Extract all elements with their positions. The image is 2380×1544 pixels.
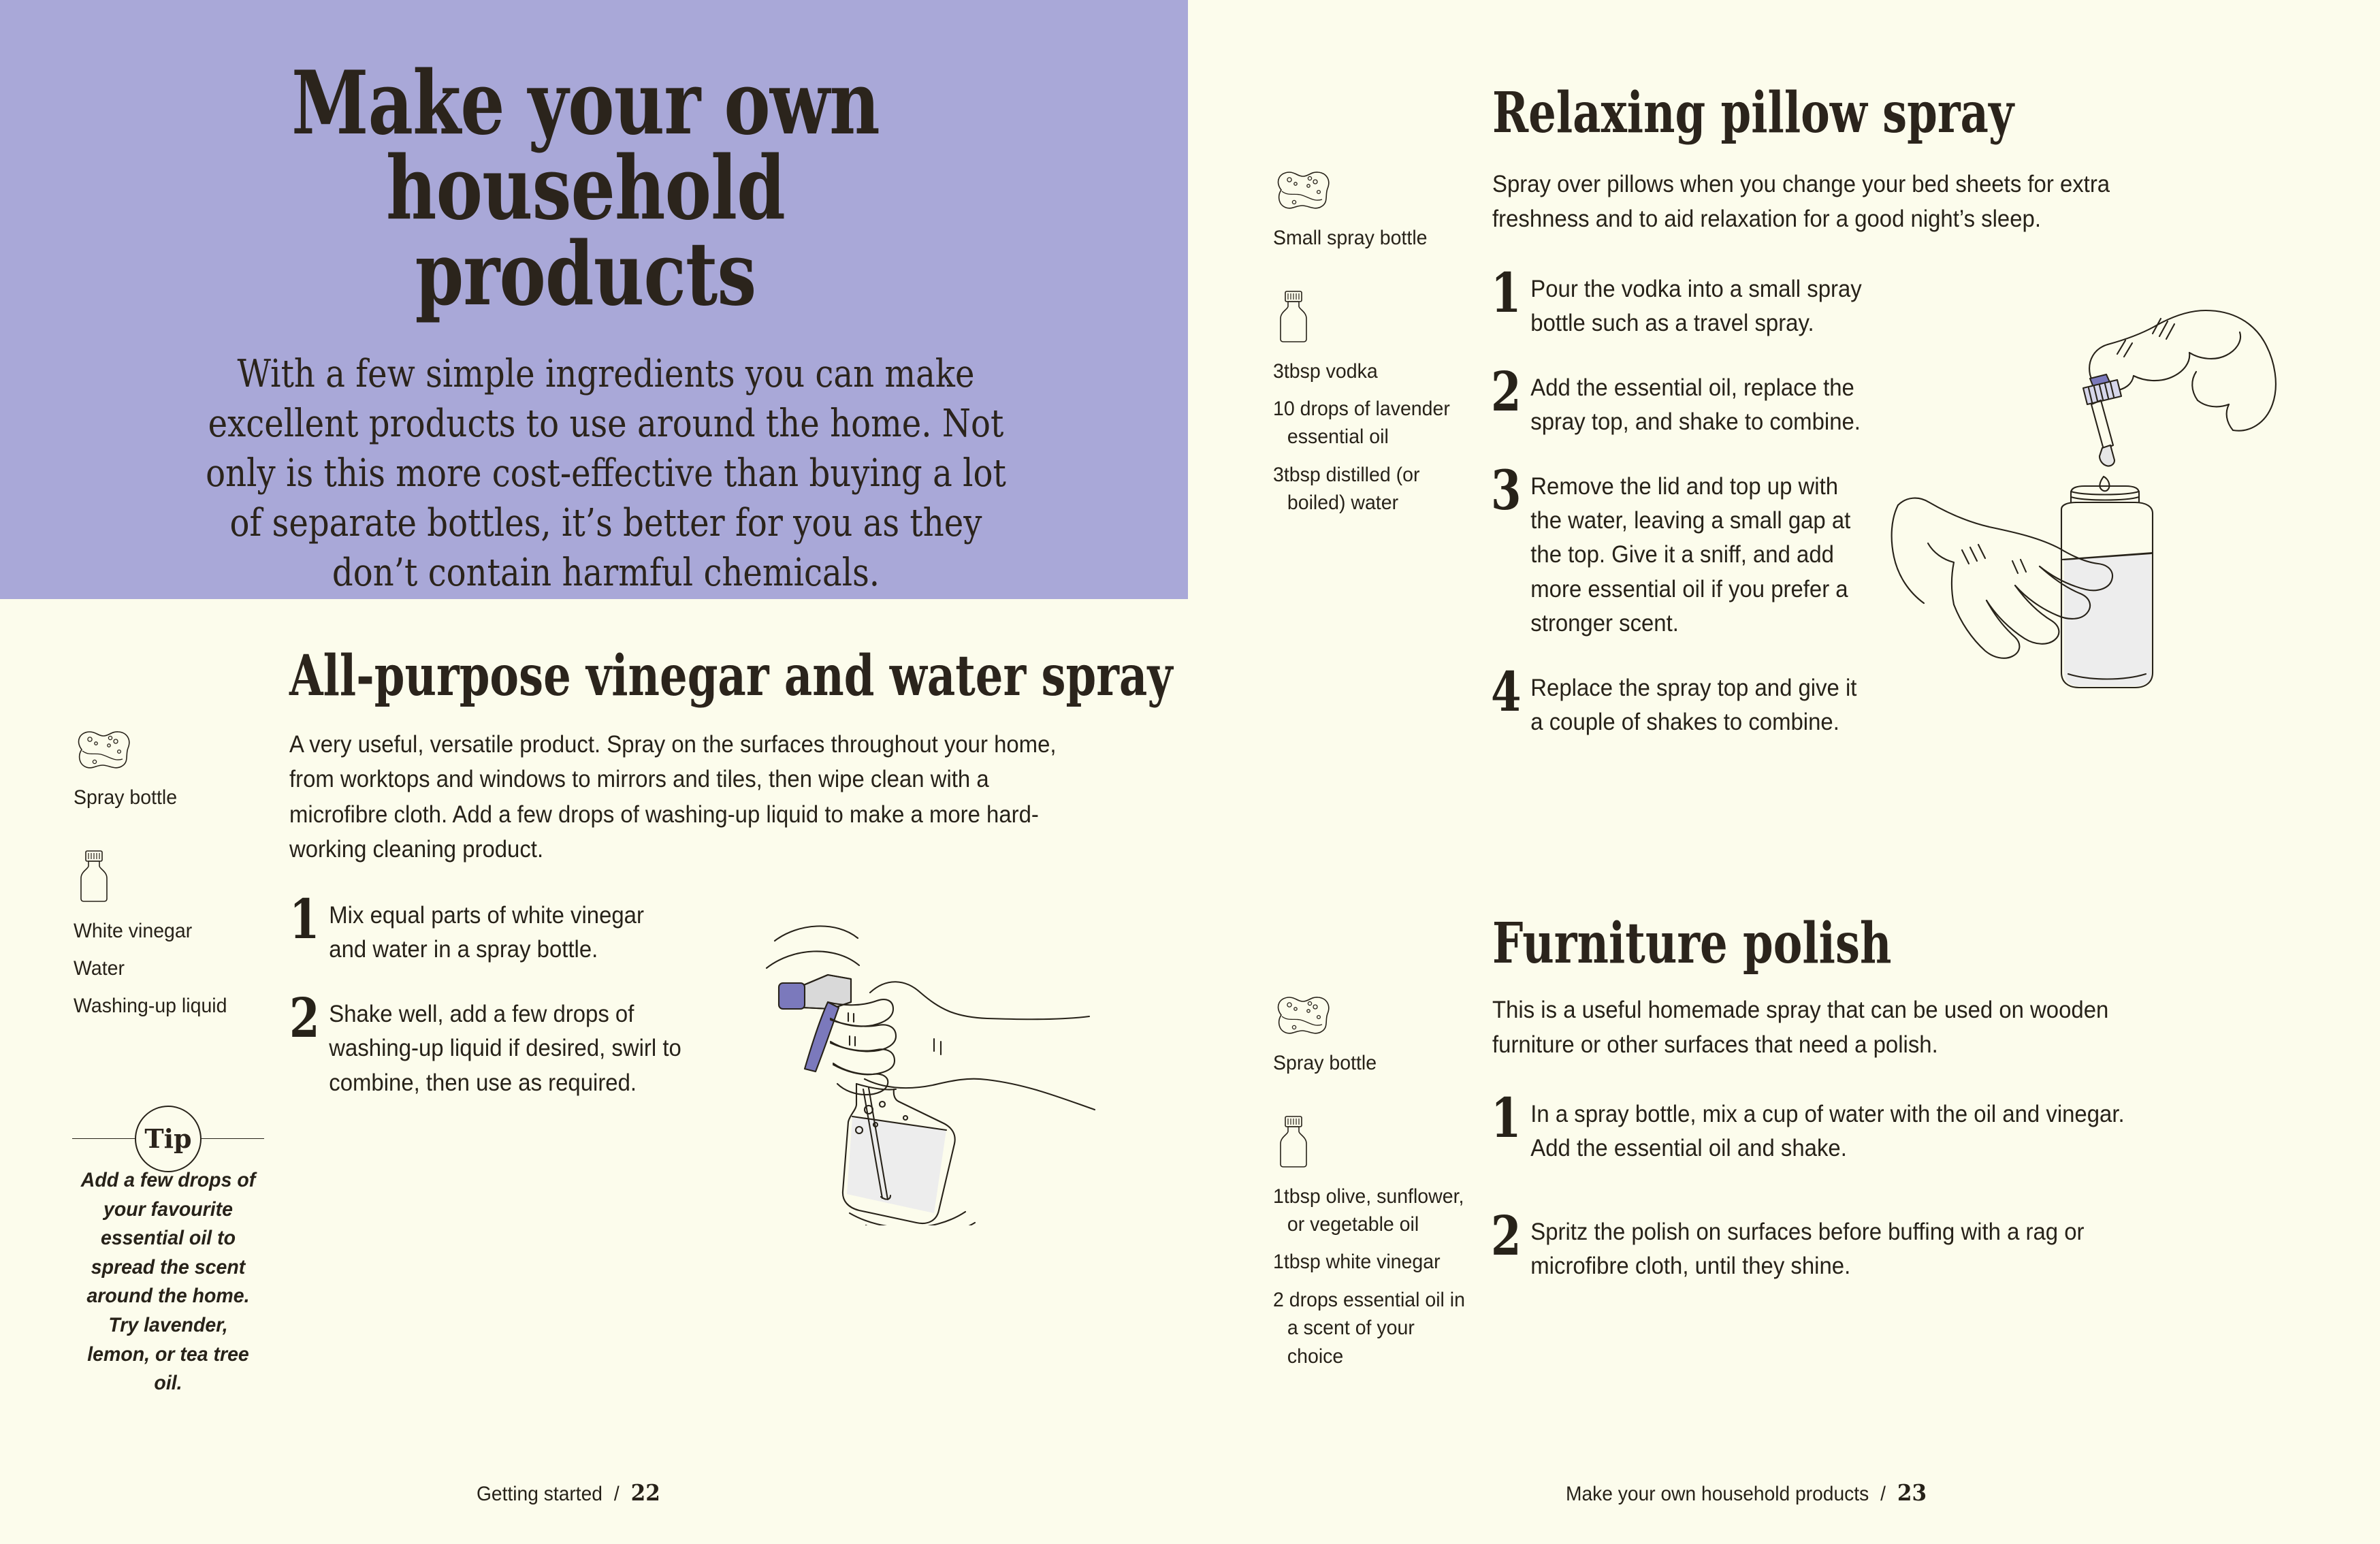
equipment-label-pillow: Small spray bottle [1273,224,1461,253]
ingredient-rail-vinegar: Spray bottle White vinegar Water Washing… [74,728,264,1030]
tip-box: Tip Add a few drops of your favourite es… [72,1138,264,1419]
small-bottle-icon [1273,1114,1477,1173]
steps-polish: 1 In a spray bottle, mix a cup of water … [1491,1097,2192,1314]
step-item: 1 In a spray bottle, mix a cup of water … [1491,1097,2192,1166]
sponge-spray-bottle-icon [1273,994,1477,1040]
sponge-spray-bottle-icon [74,728,264,774]
steps-vinegar: 1 Mix equal parts of white vinegar and w… [289,899,711,1130]
step-item: 4 Replace the spray top and give it a co… [1491,671,1893,740]
ingredient-rail-polish: Spray bottle 1tbsp olive, sunflower, or … [1273,994,1477,1380]
hands-dropper-and-bottle-illustration [1886,252,2328,732]
step-item: 2 Add the essential oil, replace the spr… [1491,371,1893,440]
ingredient-item: 1tbsp white vinegar [1273,1248,1467,1276]
footer-left: Getting started / 22 [477,1479,660,1506]
step-text: Spritz the polish on surfaces before buf… [1491,1215,2150,1284]
ingredient-item: 3tbsp distilled (or boiled) water [1273,461,1461,517]
equipment-label-polish: Spray bottle [1273,1049,1467,1078]
hero-intro-text: With a few simple ingredients you can ma… [202,350,1010,598]
ingredient-item: White vinegar [74,917,255,945]
sponge-spray-bottle-icon [1273,169,1470,214]
hero-inner: Make your own household products With a … [136,61,1035,598]
step-text: In a spray bottle, mix a cup of water wi… [1491,1097,2150,1166]
small-bottle-icon [1273,289,1470,348]
step-text: Shake well, add a few drops of washing-u… [289,997,686,1100]
rail-spacer [1273,260,1470,289]
tip-badge: Tip [135,1106,202,1172]
right-page: Relaxing pillow spray Spray over pillows… [1198,0,2380,1544]
footer-page-number: 23 [1897,1479,1927,1506]
ingredient-item: 2 drops essential oil in a scent of your… [1273,1286,1467,1370]
tip-divider-rule: Tip [72,1138,264,1139]
step-item: 2 Shake well, add a few drops of washing… [289,997,711,1100]
ingredient-item: 3tbsp vodka [1273,357,1461,385]
rail-spacer [74,820,264,848]
tip-text: Add a few drops of your favourite essent… [77,1166,259,1398]
ingredient-rail-pillow: Small spray bottle 3tbsp vodka 10 drops … [1273,169,1470,527]
recipe-intro-pillow: Spray over pillows when you change your … [1492,167,2138,237]
page-title-line-2: household products [386,138,785,325]
hand-shaking-spray-bottle-illustration [762,905,1116,1229]
step-item: 2 Spritz the polish on surfaces before b… [1491,1215,2192,1284]
step-text: Pour the vodka into a small spray bottle… [1491,272,1869,341]
step-item: 3 Remove the lid and top up with the wat… [1491,470,1893,641]
step-item: 1 Pour the vodka into a small spray bott… [1491,272,1893,341]
ingredient-item: Washing-up liquid [74,992,255,1020]
footer-right: Make your own household products / 23 [1566,1479,1927,1506]
tip-label: Tip [144,1123,191,1154]
hero-block: Make your own household products With a … [0,0,1188,599]
step-item: 1 Mix equal parts of white vinegar and w… [289,899,711,967]
ingredient-item: 10 drops of lavender essential oil [1273,395,1461,451]
step-text: Replace the spray top and give it a coup… [1491,671,1869,740]
recipe-intro-vinegar: A very useful, versatile product. Spray … [289,727,1076,867]
recipe-heading-polish: Furniture polish [1492,916,1891,971]
footer-separator: / [614,1483,620,1506]
left-page: Make your own household products With a … [0,0,1198,1544]
ingredient-item: Water [74,954,255,982]
footer-section-label: Make your own household products [1566,1483,1869,1506]
recipe-heading-pillow: Relaxing pillow spray [1492,85,2014,141]
step-text: Remove the lid and top up with the water… [1491,470,1869,641]
step-text: Add the essential oil, replace the spray… [1491,371,1869,440]
step-text: Mix equal parts of white vinegar and wat… [289,899,686,967]
footer-section-label: Getting started [477,1483,602,1506]
ingredient-item: 1tbsp olive, sunflower, or vegetable oil [1273,1183,1467,1239]
equipment-label-vinegar: Spray bottle [74,784,255,813]
rail-spacer [1273,1085,1477,1114]
footer-page-number: 22 [631,1479,660,1506]
page-title: Make your own household products [226,61,945,317]
steps-pillow: 1 Pour the vodka into a small spray bott… [1491,272,1893,769]
small-bottle-icon [74,848,264,907]
book-spread: Make your own household products With a … [0,0,2380,1544]
footer-separator: / [1880,1483,1886,1506]
recipe-intro-polish: This is a useful homemade spray that can… [1492,993,2145,1063]
recipe-heading-vinegar: All-purpose vinegar and water spray [289,648,1173,704]
